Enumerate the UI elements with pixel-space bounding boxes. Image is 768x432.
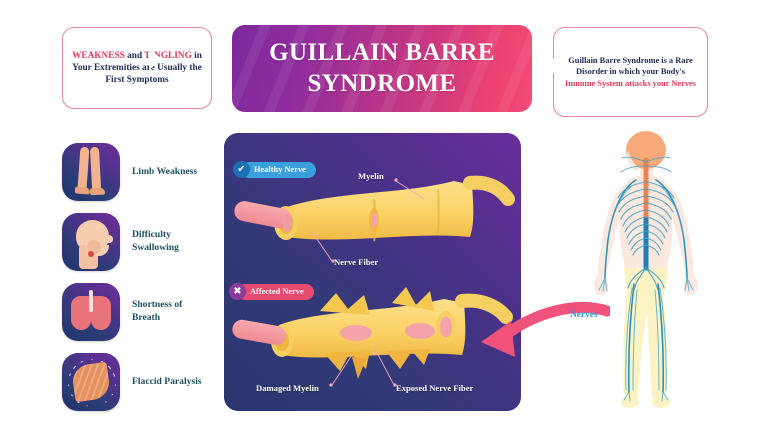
symptom-label-3: Flaccid Paralysis [132,376,202,389]
callout-left-seg-1: and [125,51,144,61]
healthy-nerve-badge: ✔ Healthy Nerve [233,161,316,178]
nervous-system-body-figure [566,128,746,413]
lungs-icon [62,283,120,341]
head-throat-icon [62,213,120,271]
symptom-item-shortness-of-breath: Shortness of Breath [62,282,212,342]
symptom-label-0: Limb Weakness [132,166,197,179]
weakness-tingling-callout: WEAKNESS and TINGLING in Your Extremitie… [62,27,212,109]
affected-nerve-badge-label: Affected Nerve [237,284,314,300]
symptom-item-difficulty-swallowing: Difficulty Swallowing [62,212,212,272]
symptom-label-1: Difficulty Swallowing [132,229,212,254]
symptom-item-limb-weakness: Limb Weakness [62,142,212,202]
label-myelin: Myelin [358,171,384,181]
legs-icon [62,143,120,201]
definition-callout-text: Guillain Barre Syndrome is a Rare Disord… [562,55,699,88]
title-line-2: SYNDROME [307,70,456,97]
label-exposed-nerve-fiber: Exposed Nerve Fiber [396,383,473,393]
callout-right-seg-0: Guillain Barre Syndrome is a Rare Disord… [568,56,692,76]
affected-nerve-badge: ✖ Affected Nerve [229,283,314,300]
healthy-nerve-illustration [233,181,508,241]
infographic-root: WEAKNESS and TINGLING in Your Extremitie… [0,0,768,432]
callout-right-tail-icon [545,55,558,77]
cross-icon: ✖ [229,283,246,300]
check-icon: ✔ [233,161,250,178]
weakness-tingling-callout-text: WEAKNESS and TINGLING in Your Extremitie… [71,50,203,87]
symptom-list: Limb Weakness Difficulty Swallowing Shor… [62,142,212,422]
symptom-label-2: Shortness of Breath [132,299,212,324]
page-title: GUILLAIN BARRE SYNDROME [255,38,509,99]
callout-left-seg-0: WEAKNESS [72,51,125,61]
label-damaged-myelin: Damaged Myelin [256,383,319,393]
symptom-item-flaccid-paralysis: Flaccid Paralysis [62,352,212,412]
muscle-icon [62,353,120,411]
title-line-1: GUILLAIN BARRE [269,39,495,66]
definition-callout: Guillain Barre Syndrome is a Rare Disord… [553,27,708,117]
healthy-nerve-badge-label: Healthy Nerve [241,162,316,178]
title-banner: GUILLAIN BARRE SYNDROME [232,25,532,112]
callout-right-seg-1: Immune System attacks your Nerves [565,79,696,88]
label-nerve-fiber: Nerve Fiber [334,257,378,267]
